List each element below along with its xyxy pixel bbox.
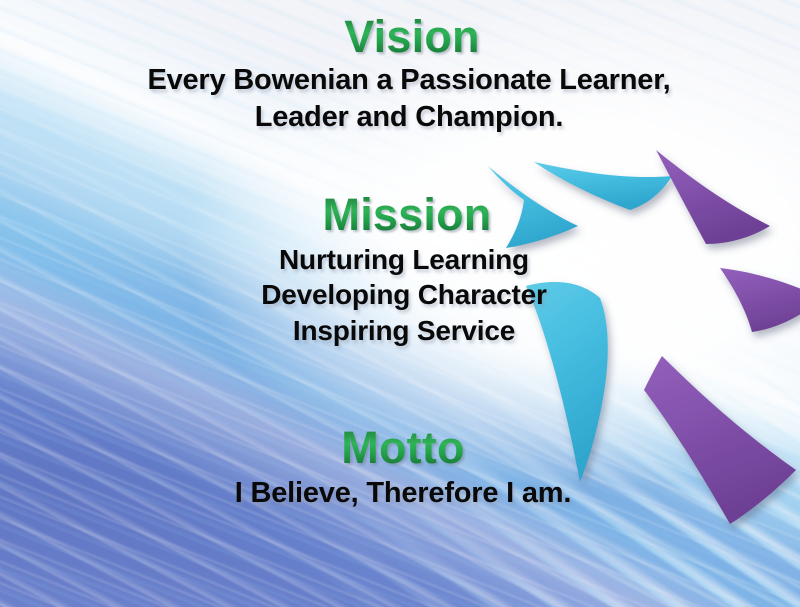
vision-line-2: Leader and Champion. (0, 99, 800, 136)
section-mission: Mission Nurturing Learning Developing Ch… (0, 192, 800, 349)
motto-heading: Motto (0, 425, 800, 471)
mission-line-1: Nurturing Learning (0, 242, 800, 278)
vision-line-1: Every Bowenian a Passionate Learner, (0, 62, 800, 99)
mission-line-3: Inspiring Service (0, 313, 800, 349)
section-vision: Vision Every Bowenian a Passionate Learn… (0, 14, 800, 136)
section-motto: Motto I Believe, Therefore I am. (0, 425, 800, 512)
mission-line-2: Developing Character (0, 277, 800, 313)
presentation-slide: Vision Every Bowenian a Passionate Learn… (0, 0, 800, 607)
vision-heading: Vision (0, 14, 800, 60)
motto-line-1: I Believe, Therefore I am. (0, 475, 800, 512)
mission-heading: Mission (0, 192, 800, 238)
